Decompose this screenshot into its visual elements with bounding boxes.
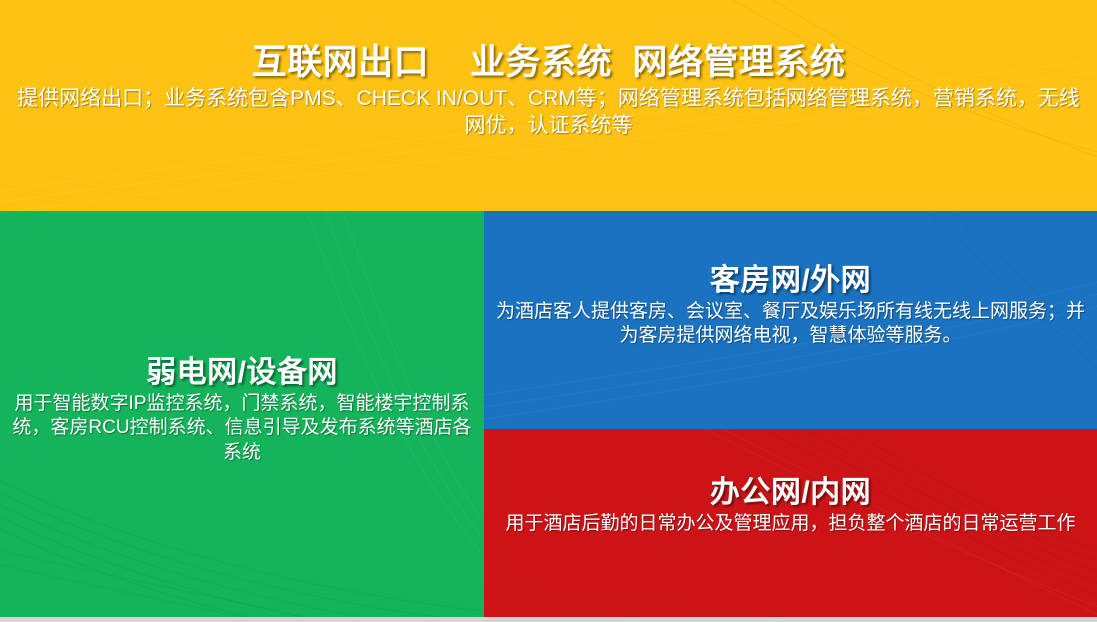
blue-title: 客房网/外网 (484, 265, 1097, 297)
red-content: 办公网/内网 用于酒店后勤的日常办公及管理应用，担负整个酒店的日常运营工作 (484, 429, 1097, 536)
red-body: 用于酒店后勤的日常办公及管理应用，担负整个酒店的日常运营工作 (484, 512, 1097, 537)
panel-office-internal-network: 办公网/内网 用于酒店后勤的日常办公及管理应用，担负整个酒店的日常运营工作 (484, 429, 1097, 617)
green-title: 弱电网/设备网 (0, 357, 484, 389)
header-content: 互联网出口 业务系统 网络管理系统 提供网络出口；业务系统包含PMS、CHECK… (0, 0, 1097, 140)
blue-content: 客房网/外网 为酒店客人提供客房、会议室、餐厅及娱乐场所有线无线上网服务；并为客… (484, 211, 1097, 349)
red-title: 办公网/内网 (484, 477, 1097, 509)
panel-weak-current-device-network: 弱电网/设备网 用于智能数字IP监控系统，门禁系统，智能楼宇控制系统，客房RCU… (0, 211, 484, 617)
panel-internet-exit: 互联网出口 业务系统 网络管理系统 提供网络出口；业务系统包含PMS、CHECK… (0, 0, 1097, 211)
slide-canvas: 互联网出口 业务系统 网络管理系统 提供网络出口；业务系统包含PMS、CHECK… (0, 0, 1097, 622)
green-content: 弱电网/设备网 用于智能数字IP监控系统，门禁系统，智能楼宇控制系统，客房RCU… (0, 211, 484, 466)
panel-guestroom-external-network: 客房网/外网 为酒店客人提供客房、会议室、餐厅及娱乐场所有线无线上网服务；并为客… (484, 211, 1097, 429)
header-body: 提供网络出口；业务系统包含PMS、CHECK IN/OUT、CRM等；网络管理系… (0, 85, 1097, 140)
blue-body: 为酒店客人提供客房、会议室、餐厅及娱乐场所有线无线上网服务；并为客房提供网络电视… (484, 300, 1097, 349)
header-title: 互联网出口 业务系统 网络管理系统 (0, 44, 1097, 81)
bottom-strip (0, 617, 1097, 622)
green-body: 用于智能数字IP监控系统，门禁系统，智能楼宇控制系统，客房RCU控制系统、信息引… (0, 392, 484, 466)
